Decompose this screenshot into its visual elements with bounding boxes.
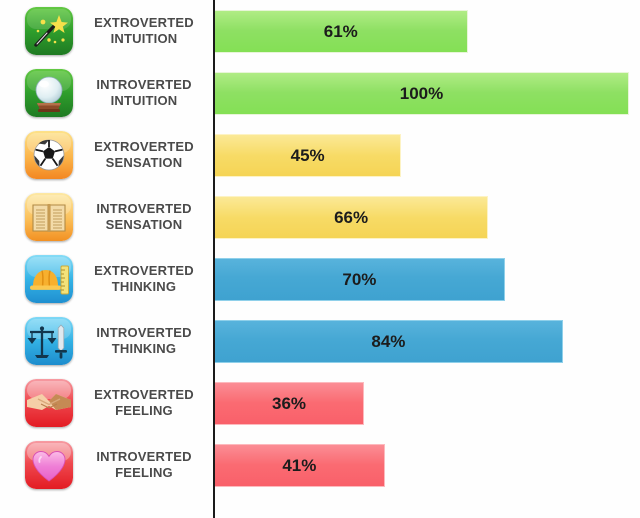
bar-value-label: 70% — [342, 270, 376, 290]
row-label: EXTROVERTED INTUITION — [80, 0, 208, 62]
row-label-line2: SENSATION — [106, 155, 183, 171]
row-label-line1: EXTROVERTED — [94, 263, 194, 279]
row-label-line2: INTUITION — [111, 31, 178, 47]
row-label: EXTROVERTED FEELING — [80, 372, 208, 434]
bar-value-label: 45% — [291, 146, 325, 166]
bar-extroverted-feeling: 36% — [215, 382, 364, 425]
row-label-line2: INTUITION — [111, 93, 178, 109]
bar-track: 36% — [215, 382, 364, 425]
bar-value-label: 61% — [324, 22, 358, 42]
row-label-line1: EXTROVERTED — [94, 139, 194, 155]
bar-value-label: 100% — [400, 84, 443, 104]
row-label: EXTROVERTED SENSATION — [80, 124, 208, 186]
bar-extroverted-sensation: 45% — [215, 134, 401, 177]
row-icon-cell — [25, 7, 73, 55]
row-icon-cell — [25, 255, 73, 303]
bar-track: 66% — [215, 196, 488, 239]
row-label-line1: INTROVERTED — [96, 449, 191, 465]
row-label-line1: EXTROVERTED — [94, 387, 194, 403]
scales-sword-icon — [25, 317, 73, 365]
row-icon-cell — [25, 131, 73, 179]
bar-introverted-sensation: 66% — [215, 196, 488, 239]
row-label-line2: THINKING — [112, 341, 176, 357]
row-label: INTROVERTED FEELING — [80, 434, 208, 496]
cognitive-functions-bar-chart: EXTROVERTED INTUITION 61% — [0, 0, 640, 518]
bar-extroverted-thinking: 70% — [215, 258, 505, 301]
bar-track: 41% — [215, 444, 385, 487]
bar-track: 100% — [215, 72, 629, 115]
bar-track: 84% — [215, 320, 563, 363]
chart-row: INTROVERTED THINKING 84% — [0, 310, 640, 372]
bar-extroverted-intuition: 61% — [215, 10, 468, 53]
magic-wand-icon — [25, 7, 73, 55]
hard-hat-ruler-icon — [25, 255, 73, 303]
bar-introverted-thinking: 84% — [215, 320, 563, 363]
chart-row: EXTROVERTED INTUITION 61% — [0, 0, 640, 62]
chart-row: EXTROVERTED SENSATION 45% — [0, 124, 640, 186]
row-label-line1: INTROVERTED — [96, 325, 191, 341]
row-label-line1: INTROVERTED — [96, 201, 191, 217]
bar-value-label: 84% — [371, 332, 405, 352]
row-icon-cell — [25, 379, 73, 427]
bar-value-label: 66% — [334, 208, 368, 228]
row-label-line1: EXTROVERTED — [94, 15, 194, 31]
bar-track: 70% — [215, 258, 505, 301]
heart-icon — [25, 441, 73, 489]
row-label: INTROVERTED SENSATION — [80, 186, 208, 248]
soccer-ball-icon — [25, 131, 73, 179]
handshake-icon — [25, 379, 73, 427]
row-label-line2: THINKING — [112, 279, 176, 295]
row-icon-cell — [25, 441, 73, 489]
row-label-line1: INTROVERTED — [96, 77, 191, 93]
chart-row: EXTROVERTED THINKING 70% — [0, 248, 640, 310]
chart-row: INTROVERTED INTUITION 100% — [0, 62, 640, 124]
row-label-line2: SENSATION — [106, 217, 183, 233]
bar-track: 61% — [215, 10, 468, 53]
chart-row: INTROVERTED FEELING 41% — [0, 434, 640, 496]
row-icon-cell — [25, 317, 73, 365]
chart-row: INTROVERTED SENSATION 66% — [0, 186, 640, 248]
bar-value-label: 41% — [282, 456, 316, 476]
row-label-line2: FEELING — [115, 465, 173, 481]
row-label-line2: FEELING — [115, 403, 173, 419]
row-label: INTROVERTED THINKING — [80, 310, 208, 372]
crystal-ball-icon — [25, 69, 73, 117]
bar-value-label: 36% — [272, 394, 306, 414]
open-book-icon — [25, 193, 73, 241]
row-icon-cell — [25, 193, 73, 241]
chart-row: EXTROVERTED FEELING 36% — [0, 372, 640, 434]
row-icon-cell — [25, 69, 73, 117]
bar-track: 45% — [215, 134, 401, 177]
bar-introverted-intuition: 100% — [215, 72, 629, 115]
row-label: INTROVERTED INTUITION — [80, 62, 208, 124]
bar-introverted-feeling: 41% — [215, 444, 385, 487]
row-label: EXTROVERTED THINKING — [80, 248, 208, 310]
